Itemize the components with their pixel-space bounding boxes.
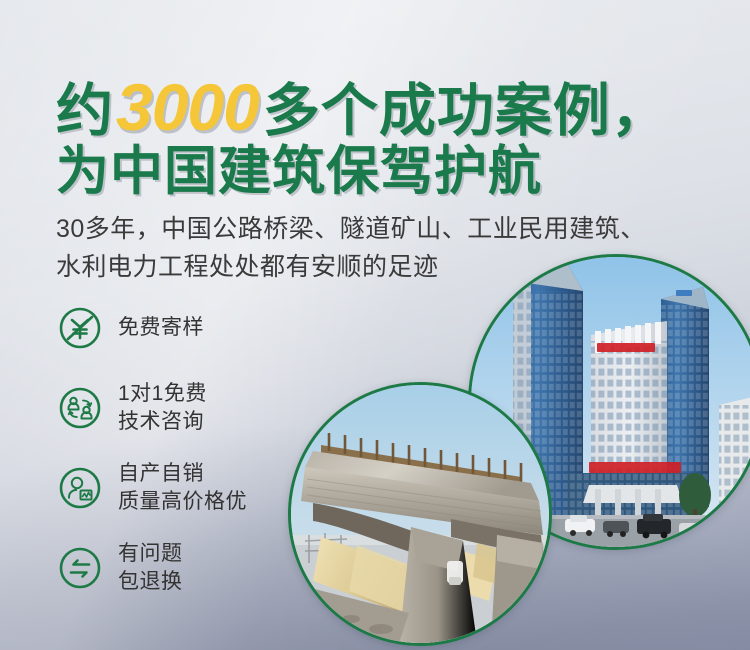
feature-list: 免费寄样 1对1免费 <box>58 296 247 616</box>
subtitle-line-1: 30多年，中国公路桥梁、隧道矿山、工业民用建筑、 <box>56 210 646 248</box>
bridge-photo <box>288 382 552 646</box>
subtitle-line-2: 水利电力工程处处都有安顺的足迹 <box>56 248 646 286</box>
bridge-photo-art <box>291 385 549 643</box>
headline-prefix: 约 <box>56 79 114 143</box>
subtitle: 30多年，中国公路桥梁、隧道矿山、工业民用建筑、 水利电力工程处处都有安顺的足迹 <box>56 210 646 286</box>
no-fee-yuan-icon <box>58 306 102 350</box>
feature-label-free-sample: 免费寄样 <box>118 314 204 342</box>
feature-label-self-produce: 自产自销 质量高价格优 <box>118 460 247 516</box>
self-produce-sell-icon <box>58 466 102 510</box>
return-exchange-icon <box>58 546 102 590</box>
feature-label-consult: 1对1免费 技术咨询 <box>118 380 207 436</box>
feature-item-consult: 1对1免费 技术咨询 <box>58 376 247 440</box>
headline-line-2: 为中国建筑保驾护航 <box>56 145 669 199</box>
one-on-one-consult-icon <box>58 386 102 430</box>
feature-item-free-sample: 免费寄样 <box>58 296 247 360</box>
headline: 约3000多个成功案例， 为中国建筑保驾护航 <box>56 74 669 199</box>
headline-number: 3000 <box>114 70 263 144</box>
promo-banner: 约3000多个成功案例， 为中国建筑保驾护航 30多年，中国公路桥梁、隧道矿山、… <box>0 0 750 650</box>
feature-item-return-exchange: 有问题 包退换 <box>58 536 247 600</box>
feature-item-self-produce: 自产自销 质量高价格优 <box>58 456 247 520</box>
headline-suffix: 多个成功案例， <box>263 79 669 143</box>
feature-label-return-exchange: 有问题 包退换 <box>118 540 183 596</box>
headline-line-1: 约3000多个成功案例， <box>56 74 669 141</box>
